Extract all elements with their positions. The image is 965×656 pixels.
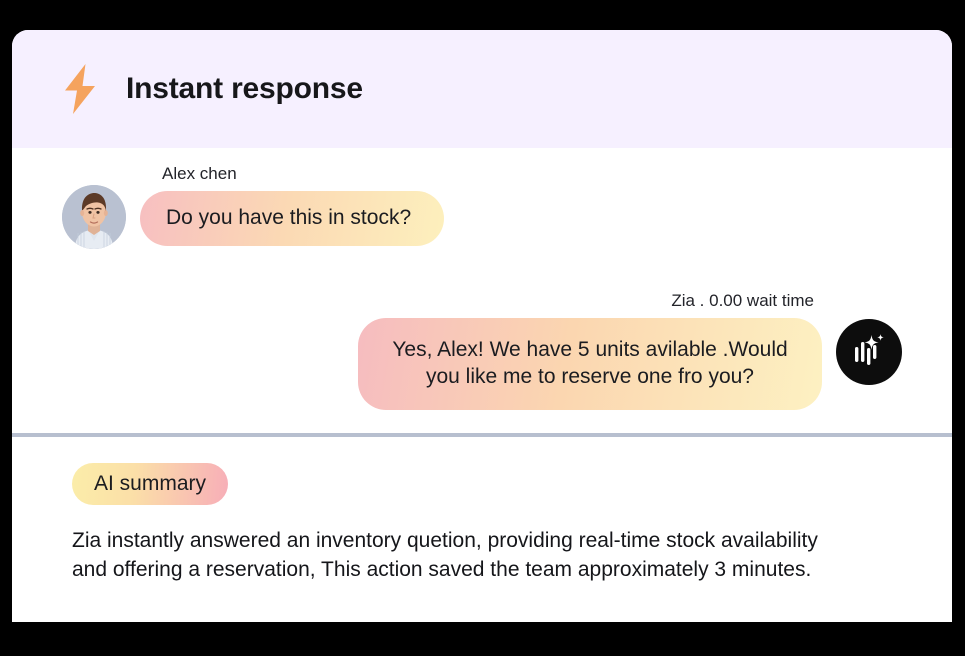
instant-response-card: Instant response [12,30,952,622]
customer-message-stack: Alex chen Do you have this in stock? [140,164,444,246]
chat-area: Alex chen Do you have this in stock? Zia… [12,148,952,410]
ai-summary-text: Zia instantly answered an inventory quet… [72,526,832,585]
zia-sparkle-icon [836,319,902,385]
ai-summary-section: AI summary Zia instantly answered an inv… [12,437,952,622]
agent-message-stack: Zia . 0.00 wait time Yes, Alex! We have … [358,291,822,410]
lightning-bolt-icon [58,63,102,115]
message-row-agent: Zia . 0.00 wait time Yes, Alex! We have … [12,291,952,410]
message-row-customer: Alex chen Do you have this in stock? [12,164,952,249]
card-header: Instant response [12,30,952,148]
ai-summary-badge: AI summary [72,463,228,505]
agent-name-wait-time-label: Zia . 0.00 wait time [671,291,814,311]
customer-message-bubble[interactable]: Do you have this in stock? [140,191,444,246]
page-title: Instant response [126,72,363,106]
customer-photo-avatar [62,185,126,249]
agent-message-bubble[interactable]: Yes, Alex! We have 5 units avilable .Wou… [358,318,822,410]
customer-name-label: Alex chen [162,164,444,184]
